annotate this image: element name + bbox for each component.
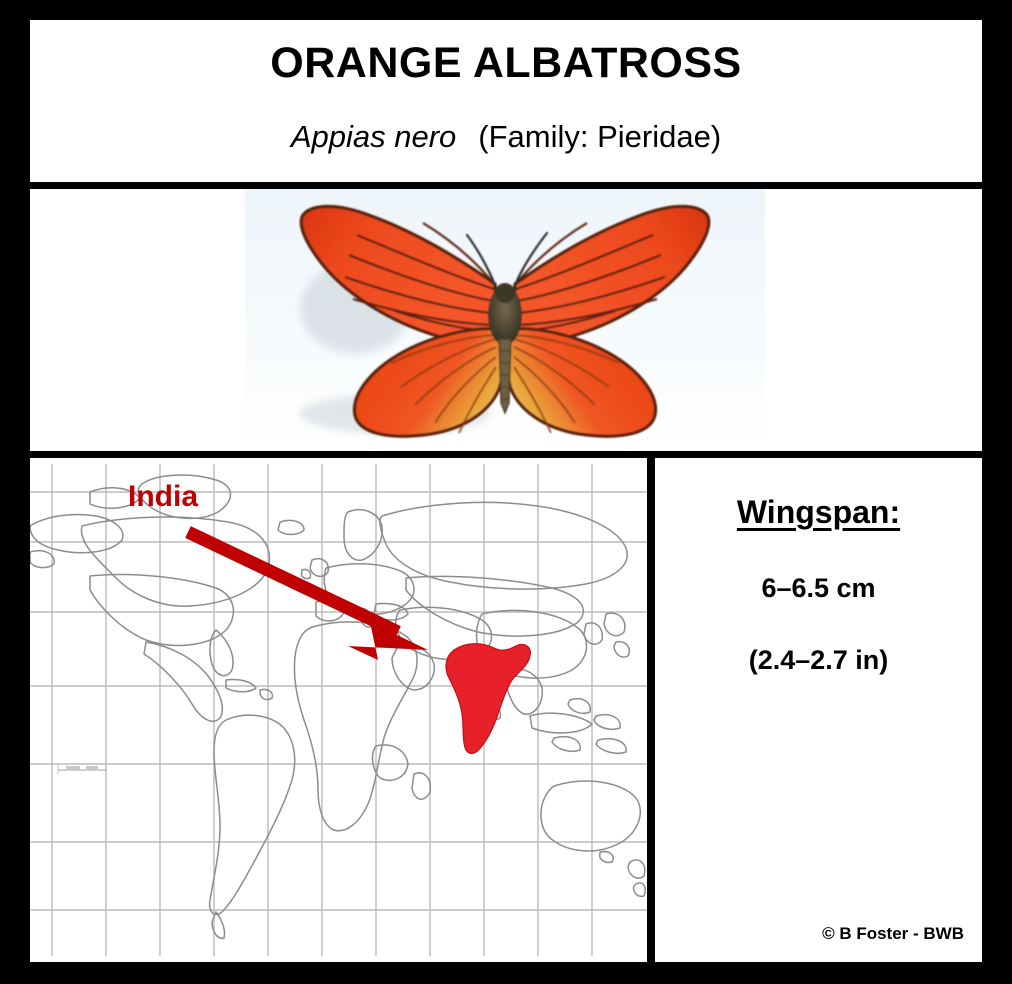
wingspan-title: Wingspan: — [655, 496, 982, 528]
specimen-photo-panel — [30, 189, 982, 458]
distribution-map-panel: India — [30, 458, 655, 962]
common-name-title: ORANGE ALBATROSS — [270, 42, 741, 85]
copyright-credit: © B Foster - BWB — [822, 925, 964, 942]
india-map-label: India — [128, 482, 198, 512]
specimen-photo — [245, 189, 765, 451]
species-info-card: ORANGE ALBATROSS Appias nero(Family: Pie… — [0, 0, 1012, 984]
scientific-name: Appias nero — [291, 119, 456, 154]
family-name: (Family: Pieridae) — [478, 119, 721, 154]
wingspan-metric-value: 6–6.5 cm — [655, 575, 982, 602]
scientific-name-line: Appias nero(Family: Pieridae) — [291, 121, 721, 152]
card-inner-frame: ORANGE ALBATROSS Appias nero(Family: Pie… — [22, 12, 990, 970]
wingspan-panel: Wingspan: 6–6.5 cm (2.4–2.7 in) © B Fost… — [655, 458, 982, 962]
head — [495, 283, 515, 303]
abdomen — [499, 339, 511, 413]
card-bottom-region: India Wingspan: 6–6.5 cm (2.4–2.7 in) © … — [30, 458, 982, 962]
world-map — [30, 464, 647, 956]
card-header: ORANGE ALBATROSS Appias nero(Family: Pie… — [30, 20, 982, 189]
wingspan-imperial-value: (2.4–2.7 in) — [655, 647, 982, 674]
butterfly-illustration — [245, 189, 765, 451]
